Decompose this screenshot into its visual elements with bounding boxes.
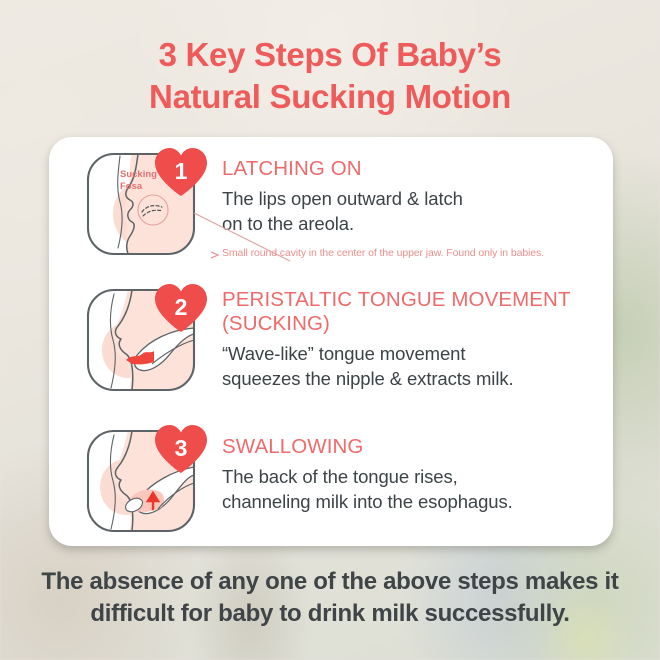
step-1-illustration: 1 xyxy=(84,148,216,260)
note-arrow-icon xyxy=(211,251,219,259)
step-2-body-line-2: squeezes the nipple & extracts milk. xyxy=(222,368,514,389)
step-1-body: The lips open outward & latch on to the … xyxy=(222,187,613,236)
step-2-title: PERISTALTIC TONGUE MOVEMENT (SUCKING) xyxy=(222,288,613,336)
fosa-label-line-2: Fosa xyxy=(120,181,142,192)
step-2-heart-badge: 2 xyxy=(152,282,210,336)
step-1-body-line-1: The lips open outward & latch xyxy=(222,188,463,209)
footer-line-1: The absence of any one of the above step… xyxy=(0,566,660,598)
step-2-title-line-2: (SUCKING) xyxy=(222,312,330,335)
step-row-2: 2 PERISTALTIC TONGUE MOVEMENT (SUCKING) … xyxy=(49,284,613,396)
steps-card: 1 LATCHING ON The lips open outward & la… xyxy=(49,137,613,546)
step-1-title: LATCHING ON xyxy=(222,157,613,181)
step-3-title: SWALLOWING xyxy=(222,435,613,459)
footer-line-2: difficult for baby to drink milk success… xyxy=(0,598,660,630)
step-1-body-line-2: on to the areola. xyxy=(222,213,354,234)
step-3-badge-number: 3 xyxy=(152,423,210,473)
step-row-3: 3 SWALLOWING The back of the tongue rise… xyxy=(49,425,613,537)
page-title-line-1: 3 Key Steps Of Baby’s xyxy=(0,34,660,76)
step-2-text: PERISTALTIC TONGUE MOVEMENT (SUCKING) “W… xyxy=(222,284,613,392)
page-title: 3 Key Steps Of Baby’s Natural Sucking Mo… xyxy=(0,34,660,118)
step-2-illustration: 2 xyxy=(84,284,216,396)
step-3-body-line-2: channeling milk into the esophagus. xyxy=(222,491,513,512)
step-3-body: The back of the tongue rises, channeling… xyxy=(222,465,613,514)
step-1-heart-badge: 1 xyxy=(152,146,210,200)
step-2-body: “Wave-like” tongue movement squeezes the… xyxy=(222,342,613,391)
step-1-footnote: Small round cavity in the center of the … xyxy=(222,247,613,261)
step-3-illustration: 3 xyxy=(84,425,216,537)
step-3-heart-badge: 3 xyxy=(152,423,210,477)
step-1-badge-number: 1 xyxy=(152,146,210,196)
step-1-footnote-text: Small round cavity in the center of the … xyxy=(222,247,544,259)
step-row-1: 1 LATCHING ON The lips open outward & la… xyxy=(49,148,613,261)
step-1-text: LATCHING ON The lips open outward & latc… xyxy=(222,148,613,261)
page-title-line-2: Natural Sucking Motion xyxy=(0,76,660,118)
step-2-badge-number: 2 xyxy=(152,282,210,332)
step-3-text: SWALLOWING The back of the tongue rises,… xyxy=(222,425,613,514)
step-2-body-line-1: “Wave-like” tongue movement xyxy=(222,343,465,364)
step-3-body-line-1: The back of the tongue rises, xyxy=(222,466,458,487)
footer-caption: The absence of any one of the above step… xyxy=(0,566,660,630)
step-2-title-line-1: PERISTALTIC TONGUE MOVEMENT xyxy=(222,288,571,311)
